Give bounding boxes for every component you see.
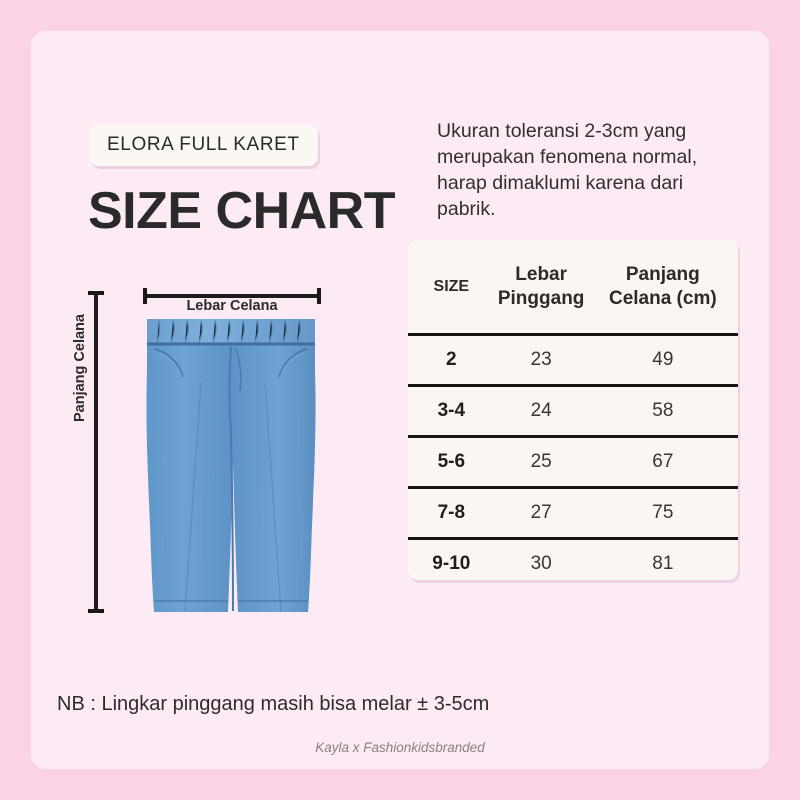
length-ruler-cap-bottom	[88, 609, 104, 613]
column-header-length-line2: Celana (cm)	[609, 288, 717, 309]
cell-length: 67	[588, 437, 738, 488]
cell-length: 75	[588, 488, 738, 539]
length-ruler	[88, 291, 104, 613]
table-row: 9-10 30 81	[408, 539, 738, 581]
nb-note: NB : Lingkar pinggang masih bisa melar ±…	[57, 693, 489, 716]
length-measure-label: Panjang Celana	[72, 278, 88, 458]
column-header-size: SIZE	[408, 240, 495, 335]
column-header-waist-line1: Lebar	[515, 264, 567, 285]
size-table: SIZE Lebar Pinggang Panjang Celana (cm) …	[408, 240, 738, 580]
length-ruler-bar	[94, 291, 98, 613]
column-header-waist: Lebar Pinggang	[495, 240, 588, 335]
table-row: 2 23 49	[408, 335, 738, 386]
cell-size: 2	[408, 335, 495, 386]
cell-waist: 27	[495, 488, 588, 539]
cell-size: 3-4	[408, 386, 495, 437]
size-table-head: SIZE Lebar Pinggang Panjang Celana (cm)	[408, 240, 738, 335]
brand-badge-label: ELORA FULL KARET	[107, 134, 300, 156]
cell-waist: 30	[495, 539, 588, 581]
cell-size: 7-8	[408, 488, 495, 539]
table-row: 3-4 24 58	[408, 386, 738, 437]
table-row: 7-8 27 75	[408, 488, 738, 539]
cell-length: 49	[588, 335, 738, 386]
column-header-length: Panjang Celana (cm)	[588, 240, 738, 335]
size-table-card: SIZE Lebar Pinggang Panjang Celana (cm) …	[408, 240, 738, 580]
jeans-illustration	[141, 313, 321, 618]
cell-size: 9-10	[408, 539, 495, 581]
size-chart-poster: ELORA FULL KARET SIZE CHART Ukuran toler…	[0, 0, 800, 800]
page-title: SIZE CHART	[88, 181, 395, 241]
column-header-waist-line2: Pinggang	[498, 288, 585, 309]
size-table-body: 2 23 49 3-4 24 58 5-6 25 67 7-8 27 7	[408, 335, 738, 581]
table-row: 5-6 25 67	[408, 437, 738, 488]
cell-waist: 23	[495, 335, 588, 386]
cell-waist: 25	[495, 437, 588, 488]
cell-waist: 24	[495, 386, 588, 437]
cell-length: 81	[588, 539, 738, 581]
table-header-row: SIZE Lebar Pinggang Panjang Celana (cm)	[408, 240, 738, 335]
width-measure-label: Lebar Celana	[143, 298, 321, 314]
brand-badge: ELORA FULL KARET	[89, 125, 318, 166]
tolerance-note: Ukuran toleransi 2-3cm yang merupakan fe…	[437, 118, 737, 222]
cell-size: 5-6	[408, 437, 495, 488]
column-header-length-line1: Panjang	[626, 264, 700, 285]
cell-length: 58	[588, 386, 738, 437]
credit-line: Kayla x Fashionkidsbranded	[0, 740, 800, 755]
